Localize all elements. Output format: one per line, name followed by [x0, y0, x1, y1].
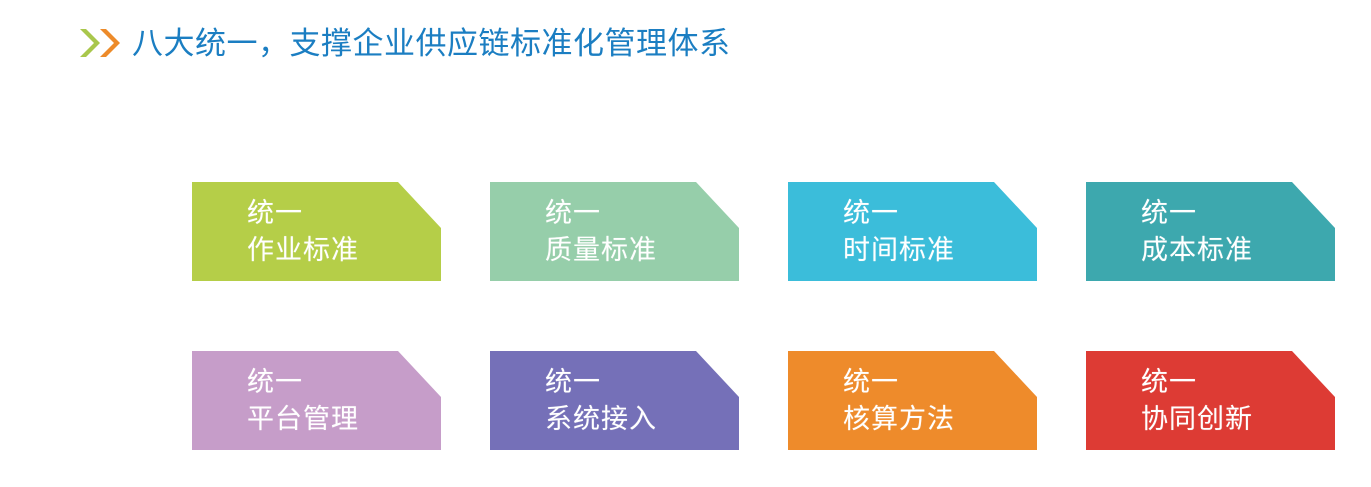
- card-platform-management[interactable]: 统一 平台管理: [192, 351, 441, 450]
- card-top-label: 统一: [843, 195, 955, 232]
- card-bottom-label: 核算方法: [843, 401, 955, 438]
- card-bottom-label: 成本标准: [1141, 232, 1253, 269]
- double-chevron-icon: [78, 26, 126, 60]
- card-label: 统一 作业标准: [247, 195, 359, 269]
- card-accounting-method[interactable]: 统一 核算方法: [788, 351, 1037, 450]
- card-time-standard[interactable]: 统一 时间标准: [788, 182, 1037, 281]
- card-system-access[interactable]: 统一 系统接入: [490, 351, 739, 450]
- card-bottom-label: 质量标准: [545, 232, 657, 269]
- card-operation-standard[interactable]: 统一 作业标准: [192, 182, 441, 281]
- card-bottom-label: 时间标准: [843, 232, 955, 269]
- card-row-2: 统一 平台管理 统一 系统接入 统一 核算方法 统一 协同创新: [192, 351, 1340, 450]
- card-label: 统一 质量标准: [545, 195, 657, 269]
- card-label: 统一 平台管理: [247, 364, 359, 438]
- card-top-label: 统一: [843, 364, 955, 401]
- card-collaborative-innovation[interactable]: 统一 协同创新: [1086, 351, 1335, 450]
- card-top-label: 统一: [545, 195, 657, 232]
- card-label: 统一 成本标准: [1141, 195, 1253, 269]
- unified-standards-grid: 统一 作业标准 统一 质量标准 统一 时间标准 统一 成本标准: [192, 182, 1340, 450]
- card-row-1: 统一 作业标准 统一 质量标准 统一 时间标准 统一 成本标准: [192, 182, 1340, 281]
- page-header: 八大统一，支撑企业供应链标准化管理体系: [78, 18, 731, 68]
- card-top-label: 统一: [1141, 195, 1253, 232]
- card-top-label: 统一: [247, 195, 359, 232]
- card-top-label: 统一: [247, 364, 359, 401]
- card-quality-standard[interactable]: 统一 质量标准: [490, 182, 739, 281]
- card-label: 统一 协同创新: [1141, 364, 1253, 438]
- card-label: 统一 核算方法: [843, 364, 955, 438]
- card-label: 统一 时间标准: [843, 195, 955, 269]
- card-label: 统一 系统接入: [545, 364, 657, 438]
- card-bottom-label: 作业标准: [247, 232, 359, 269]
- card-cost-standard[interactable]: 统一 成本标准: [1086, 182, 1335, 281]
- card-bottom-label: 平台管理: [247, 401, 359, 438]
- card-top-label: 统一: [545, 364, 657, 401]
- card-bottom-label: 系统接入: [545, 401, 657, 438]
- page-title: 八大统一，支撑企业供应链标准化管理体系: [132, 28, 731, 59]
- card-bottom-label: 协同创新: [1141, 401, 1253, 438]
- card-top-label: 统一: [1141, 364, 1253, 401]
